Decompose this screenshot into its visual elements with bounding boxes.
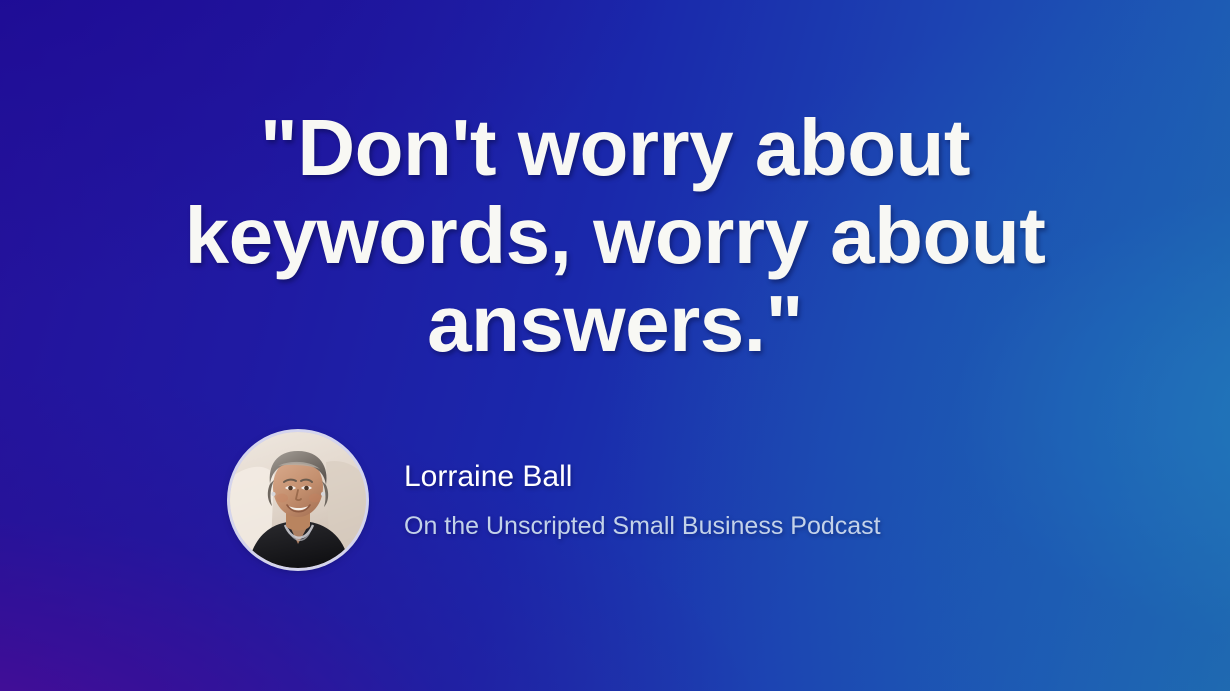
quote-text: "Don't worry about keywords, worry about…	[0, 104, 1230, 368]
quote-line-2: keywords, worry about	[60, 192, 1170, 280]
attribution-subtitle: On the Unscripted Small Business Podcast	[404, 510, 881, 542]
avatar	[230, 432, 366, 568]
quote-card: "Don't worry about keywords, worry about…	[0, 0, 1230, 691]
attribution: Lorraine Ball On the Unscripted Small Bu…	[230, 432, 881, 568]
card-content: "Don't worry about keywords, worry about…	[0, 0, 1230, 691]
quote-line-1: "Don't worry about	[60, 104, 1170, 192]
quote-line-3: answers."	[60, 280, 1170, 368]
attribution-name: Lorraine Ball	[404, 458, 881, 496]
avatar-portrait-photo-icon	[230, 432, 366, 568]
attribution-text: Lorraine Ball On the Unscripted Small Bu…	[404, 458, 881, 542]
